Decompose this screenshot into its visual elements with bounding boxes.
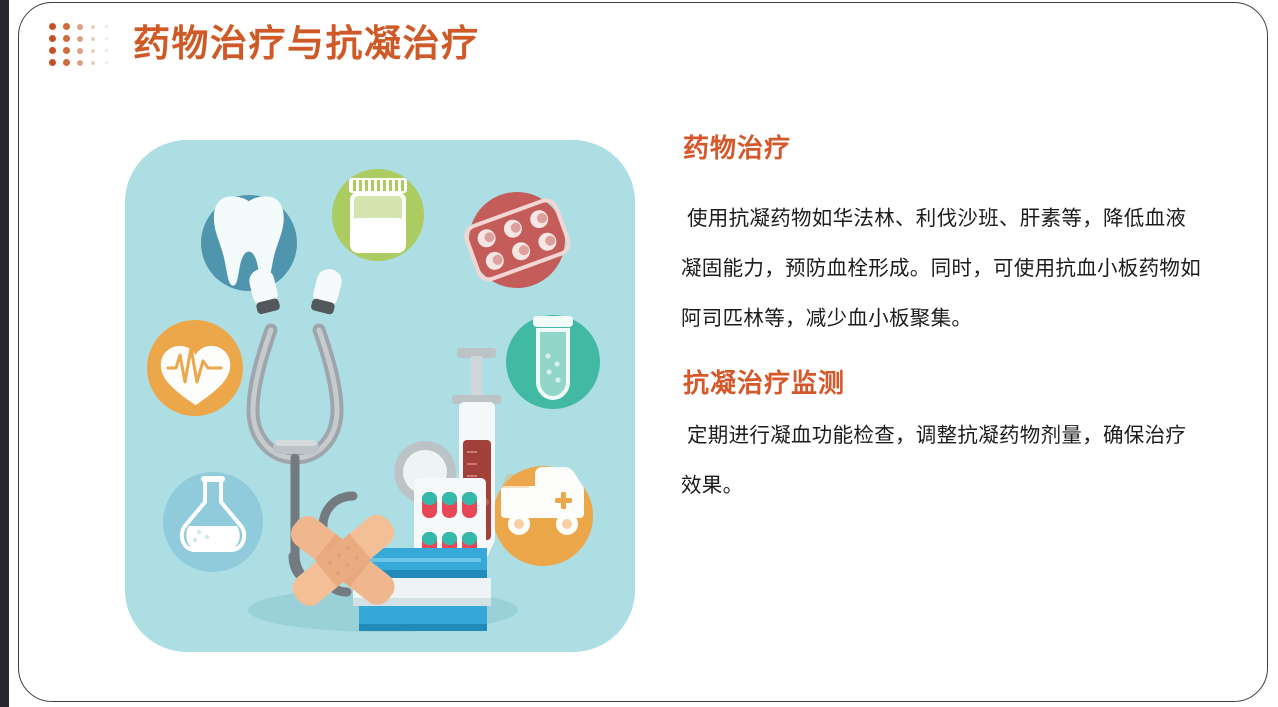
slide-card: 药物治疗与抗凝治疗 (18, 2, 1268, 702)
slide-header: 药物治疗与抗凝治疗 (49, 21, 480, 66)
content-column: 药物治疗 使用抗凝药物如华法林、利伐沙班、肝素等，降低血液凝固能力，预防血栓形成… (681, 133, 1201, 511)
dot-grid-decoration-icon (49, 23, 111, 66)
section-medication-therapy: 药物治疗 使用抗凝药物如华法林、利伐沙班、肝素等，降低血液凝固能力，预防血栓形成… (681, 133, 1201, 344)
page-title: 药物治疗与抗凝治疗 (133, 25, 480, 62)
section-body: 定期进行凝血功能检查，调整抗凝药物剂量，确保治疗效果。 (681, 411, 1201, 511)
section-body: 使用抗凝药物如华法林、利伐沙班、肝素等，降低血液凝固能力，预防血栓形成。同时，可… (681, 194, 1201, 344)
section-heading: 抗凝治疗监测 (683, 368, 1201, 399)
slide-root: 药物治疗与抗凝治疗 (0, 0, 1278, 707)
medical-illustration (125, 140, 635, 652)
section-heading: 药物治疗 (683, 133, 1201, 164)
left-edge-strip (0, 0, 9, 707)
section-anticoagulation-monitoring: 抗凝治疗监测 定期进行凝血功能检查，调整抗凝药物剂量，确保治疗效果。 (681, 368, 1201, 511)
